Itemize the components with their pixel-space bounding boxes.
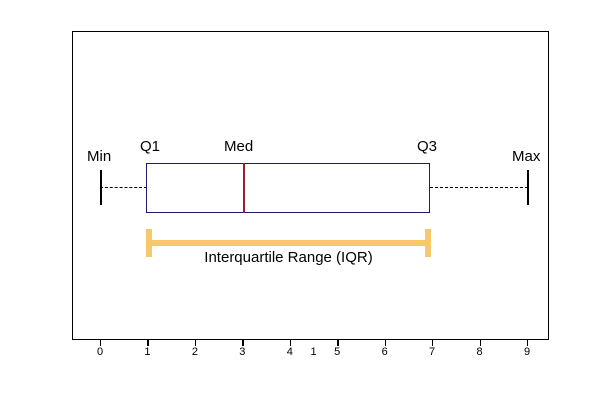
x-tick-label-5: 5 [327, 347, 347, 358]
x-tick-label-6: 6 [375, 347, 395, 358]
iqr-bracket-bar [146, 240, 431, 246]
whisker-min-cap [100, 170, 102, 205]
x-tick-label-stray: 1 [304, 347, 324, 358]
iqr-box [146, 163, 430, 213]
whisker-left-line [100, 187, 147, 188]
x-tick-label-2: 2 [185, 347, 205, 358]
label-min: Min [87, 149, 111, 164]
label-q1: Q1 [140, 139, 160, 154]
x-tick-label-8: 8 [470, 347, 490, 358]
x-tick-label-4: 4 [280, 347, 300, 358]
median-line [243, 163, 245, 213]
x-tick-label-7: 7 [422, 347, 442, 358]
x-tick-label-0: 0 [90, 347, 110, 358]
x-tick-label-1: 1 [137, 347, 157, 358]
x-tick-label-3: 3 [232, 347, 252, 358]
boxplot-figure: Min Q1 Med Q3 Max Interquartile Range (I… [0, 0, 604, 406]
label-median: Med [224, 139, 253, 154]
whisker-max-cap [527, 170, 529, 205]
label-max: Max [512, 149, 540, 164]
x-tick-label-9: 9 [517, 347, 537, 358]
iqr-bracket-label: Interquartile Range (IQR) [146, 250, 431, 266]
whisker-right-line [430, 187, 528, 188]
label-q3: Q3 [417, 139, 437, 154]
